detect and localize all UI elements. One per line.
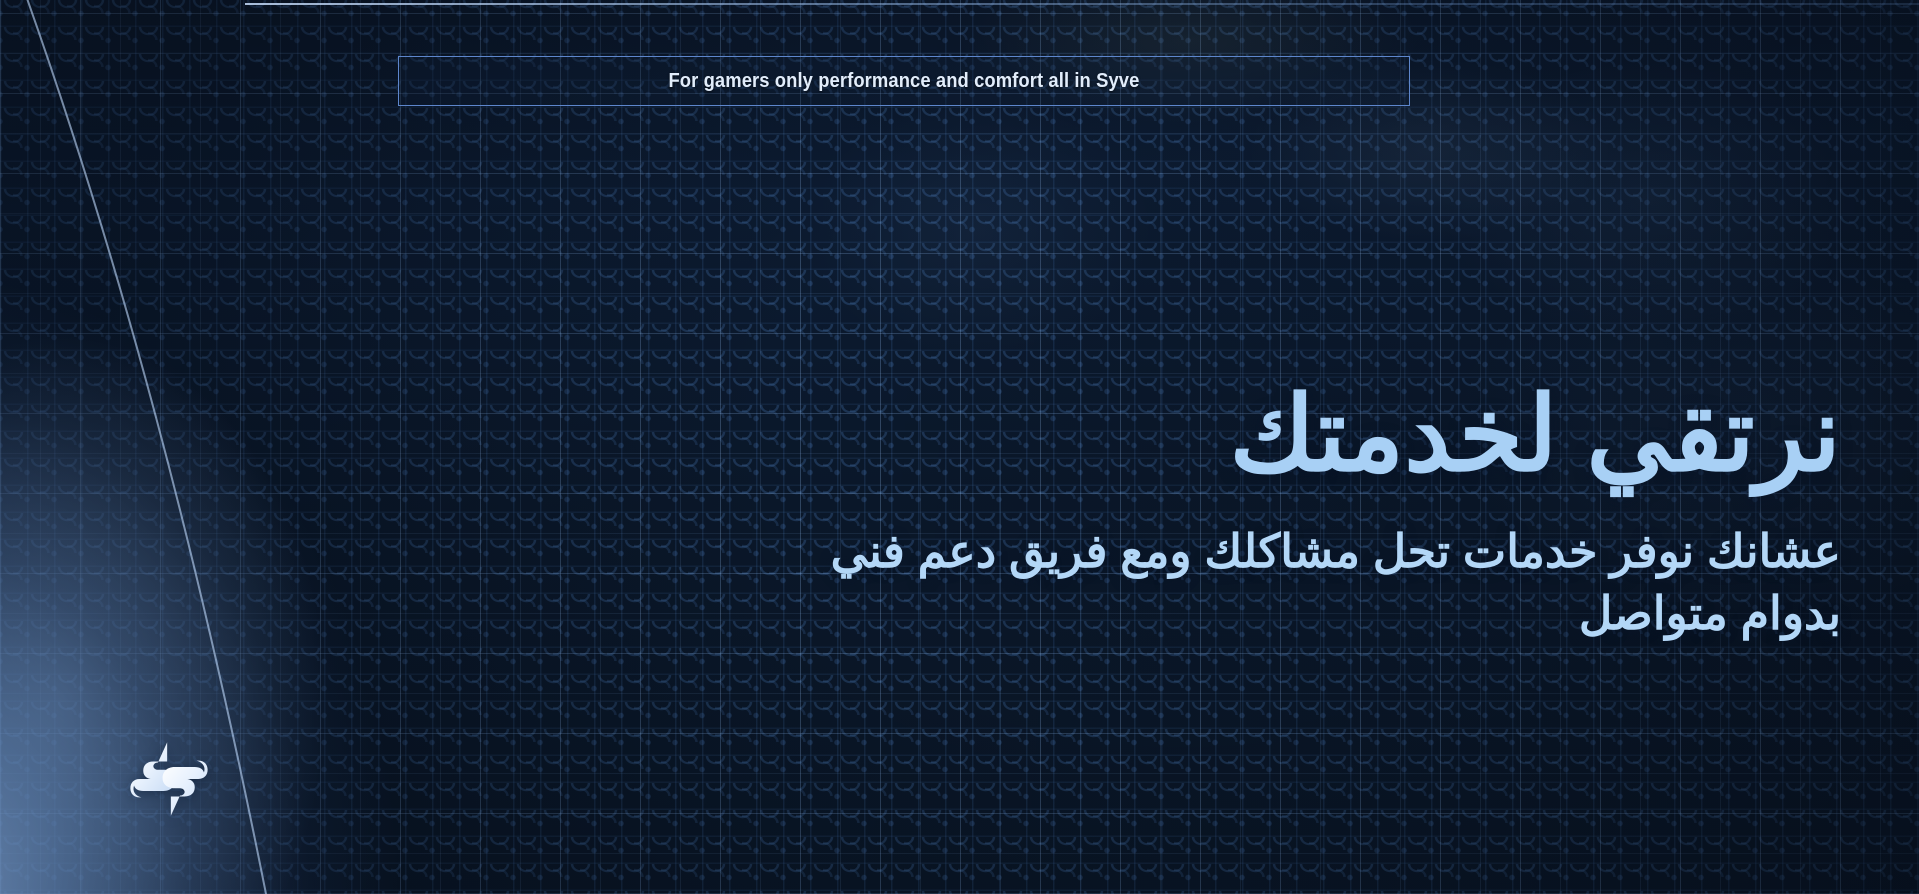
hero-subtitle-line-1: عشانك نوفر خدمات تحل مشاكلك ومع فريق دعم…: [831, 525, 1841, 577]
cta-banner[interactable]: For gamers only performance and comfort …: [398, 56, 1410, 106]
syve-swoosh-logo-icon[interactable]: [123, 733, 215, 825]
hero-title: نرتقي لخدمتك: [781, 380, 1841, 490]
hero-copy: نرتقي لخدمتك عشانك نوفر خدمات تحل مشاكلك…: [781, 380, 1841, 644]
hero-subtitle: عشانك نوفر خدمات تحل مشاكلك ومع فريق دعم…: [781, 520, 1841, 644]
hero-section: For gamers only performance and comfort …: [0, 0, 1919, 894]
hero-subtitle-line-2: بدوام متواصل: [1579, 587, 1841, 639]
top-hairline: [245, 3, 1919, 5]
cta-banner-label: For gamers only performance and comfort …: [669, 70, 1140, 93]
